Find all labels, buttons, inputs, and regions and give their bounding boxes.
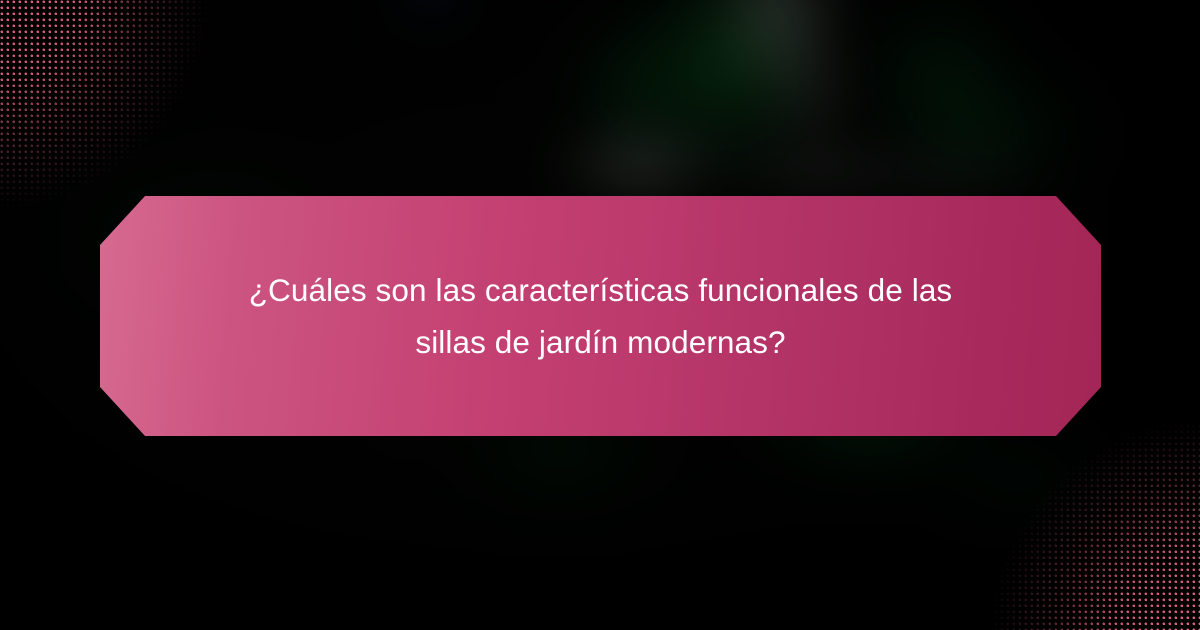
page-title: ¿Cuáles son las características funciona… bbox=[216, 264, 986, 369]
social-share-card: ¿Cuáles son las características funciona… bbox=[0, 0, 1200, 630]
title-banner: ¿Cuáles son las características funciona… bbox=[100, 196, 1101, 436]
